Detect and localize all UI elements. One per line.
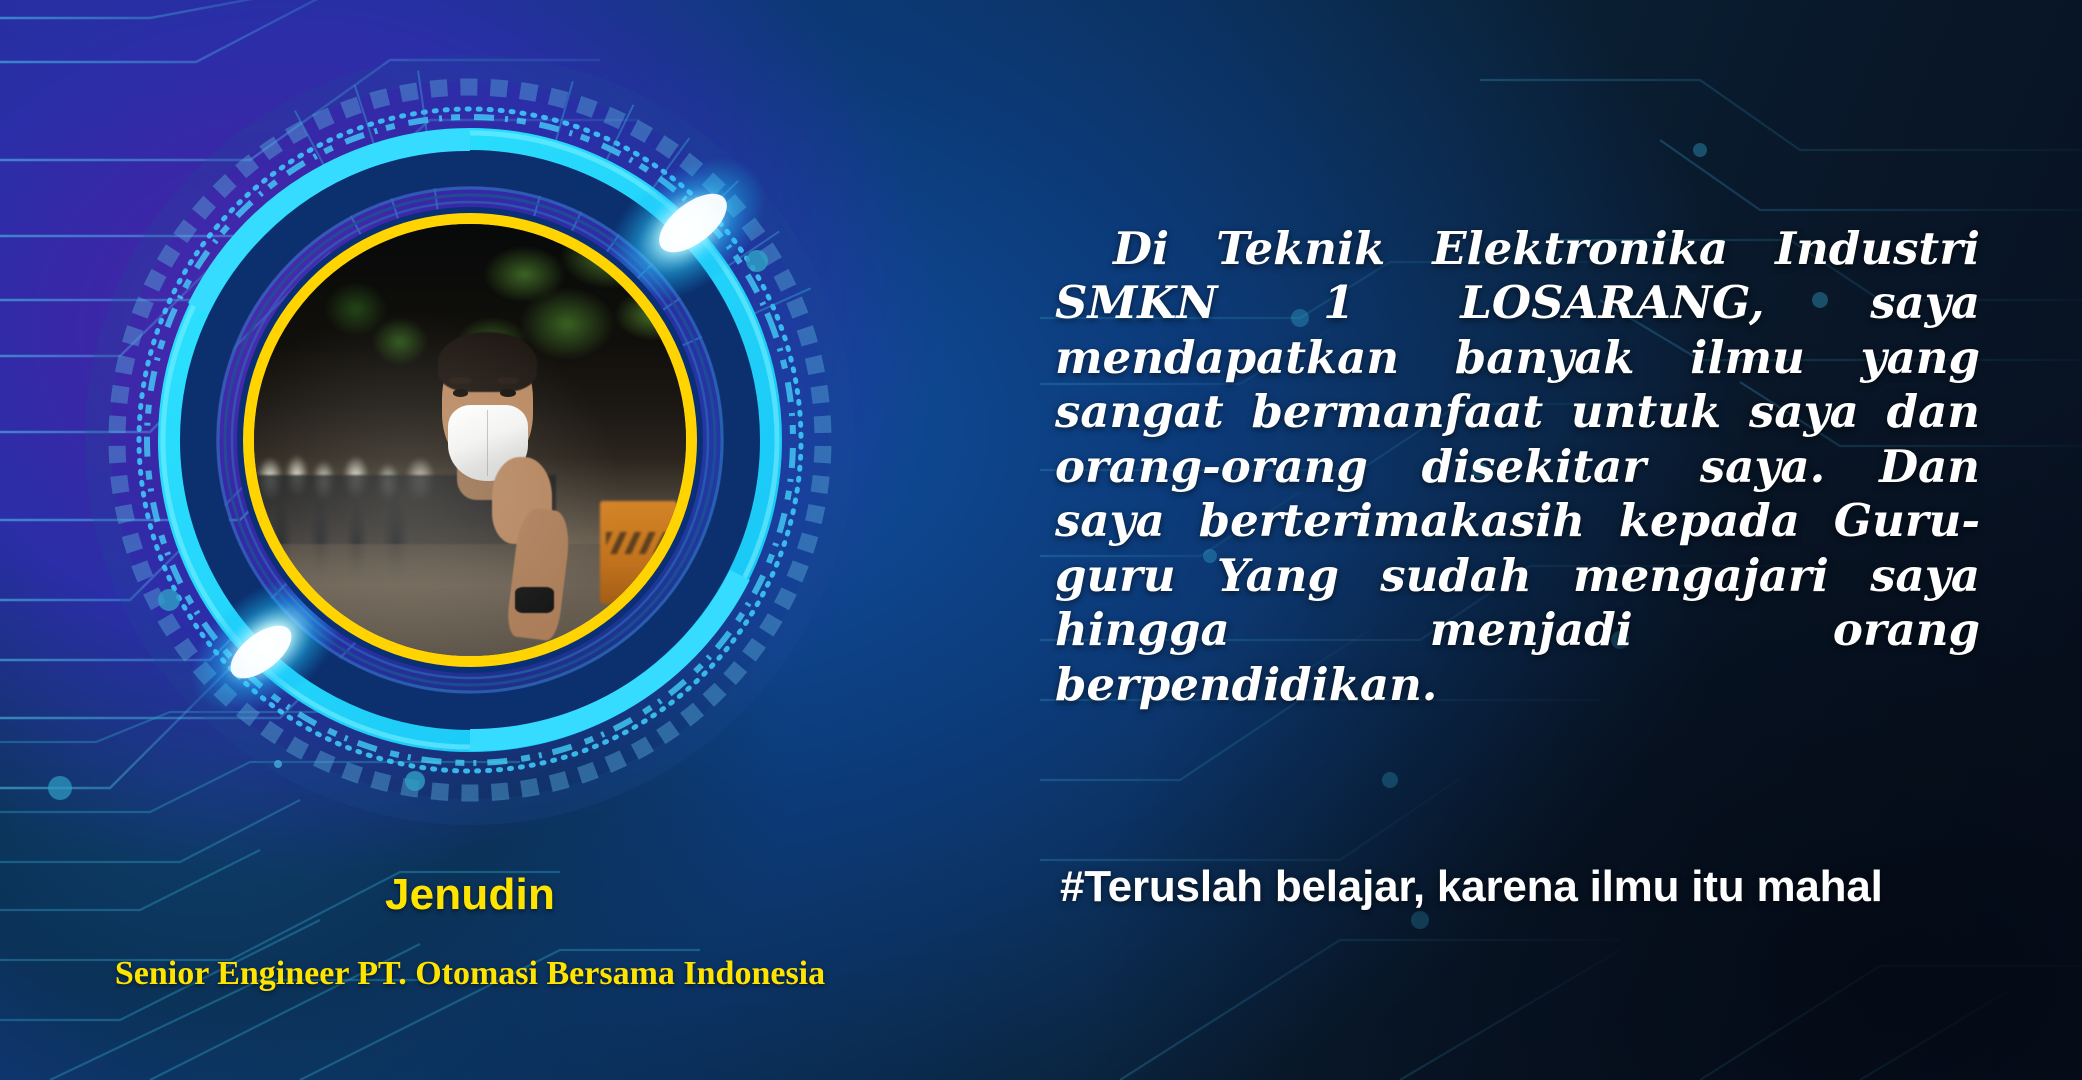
- testimonial-hashtag: #Teruslah belajar, karena ilmu itu mahal: [1060, 862, 1883, 912]
- person-role: Senior Engineer PT. Otomasi Bersama Indo…: [0, 955, 940, 993]
- avatar: [254, 224, 686, 656]
- testimonial-graphic: Jenudin Senior Engineer PT. Otomasi Bers…: [0, 0, 2082, 1080]
- portrait-ring: [85, 55, 855, 825]
- portrait-photo: [254, 224, 686, 656]
- testimonial-quote: Di Teknik Elektronika Industri SMKN 1 LO…: [1055, 222, 1980, 766]
- person-name: Jenudin: [0, 870, 940, 920]
